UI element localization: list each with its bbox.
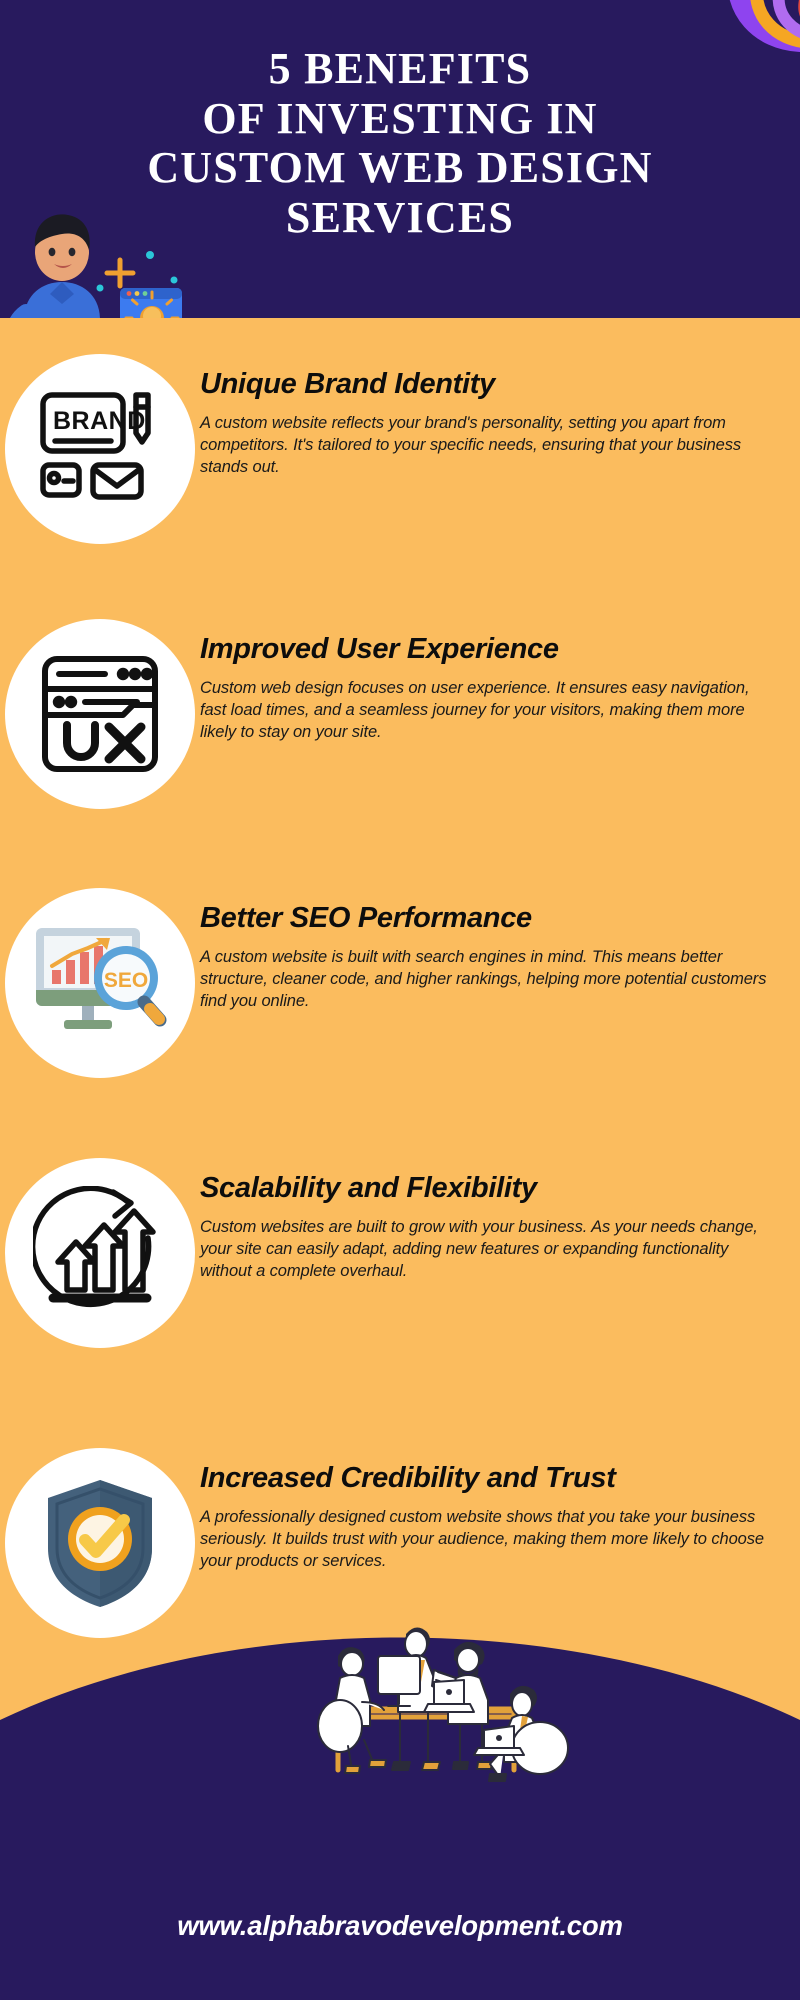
seo-monitor-magnifier-icon: SEO <box>30 918 170 1048</box>
benefit-title-2: Improved User Experience <box>200 633 774 667</box>
benefit-title-5: Increased Credibility and Trust <box>200 1462 774 1496</box>
benefit-body-2: Custom web design focuses on user experi… <box>200 677 774 744</box>
ux-browser-icon <box>39 653 161 775</box>
benefit-text-4: Scalability and Flexibility Custom websi… <box>200 1152 800 1348</box>
benefit-text-3: Better SEO Performance A custom website … <box>200 882 800 1078</box>
benefit-card-4: Scalability and Flexibility Custom websi… <box>0 1152 800 1348</box>
icon-circle-1: BRAND <box>5 354 195 544</box>
brand-document-icon: BRAND <box>37 389 163 509</box>
icon-circle-2 <box>5 619 195 809</box>
benefit-card-2: Improved User Experience Custom web desi… <box>0 613 800 809</box>
benefit-title-4: Scalability and Flexibility <box>200 1172 774 1206</box>
benefit-icon-wrap-3: SEO <box>0 882 200 1078</box>
benefit-icon-wrap-4 <box>0 1152 200 1348</box>
footer-website-url[interactable]: www.alphabravodevelopment.com <box>0 1910 800 1942</box>
title-line-3: CUSTOM WEB DESIGN <box>0 143 800 193</box>
team-illustration <box>278 1598 578 1788</box>
benefit-body-4: Custom websites are built to grow with y… <box>200 1216 774 1283</box>
icon-circle-3: SEO <box>5 888 195 1078</box>
svg-text:BRAND: BRAND <box>53 407 146 435</box>
header-banner: 5 BENEFITS OF INVESTING IN CUSTOM WEB DE… <box>0 0 800 318</box>
benefit-text-1: Unique Brand Identity A custom website r… <box>200 348 800 544</box>
benefit-icon-wrap-1: BRAND <box>0 348 200 544</box>
icon-circle-4 <box>5 1158 195 1348</box>
benefit-title-3: Better SEO Performance <box>200 902 774 936</box>
title-line-2: OF INVESTING IN <box>0 94 800 144</box>
benefit-title-1: Unique Brand Identity <box>200 368 774 402</box>
benefit-icon-wrap-2 <box>0 613 200 809</box>
growth-arrows-cycle-icon <box>33 1186 167 1320</box>
benefit-body-1: A custom website reflects your brand's p… <box>200 412 774 479</box>
hero-person-illustration <box>2 200 202 318</box>
benefit-card-3: SEO Better SEO Performance A custom webs… <box>0 882 800 1078</box>
benefit-card-1: BRAND Unique Brand Identity A custom web… <box>0 348 800 544</box>
benefit-text-2: Improved User Experience Custom web desi… <box>200 613 800 809</box>
benefit-body-5: A professionally designed custom website… <box>200 1506 774 1573</box>
benefit-body-3: A custom website is built with search en… <box>200 946 774 1013</box>
title-line-1: 5 BENEFITS <box>0 44 800 94</box>
shield-check-icon <box>40 1476 160 1610</box>
svg-text:SEO: SEO <box>104 969 148 992</box>
